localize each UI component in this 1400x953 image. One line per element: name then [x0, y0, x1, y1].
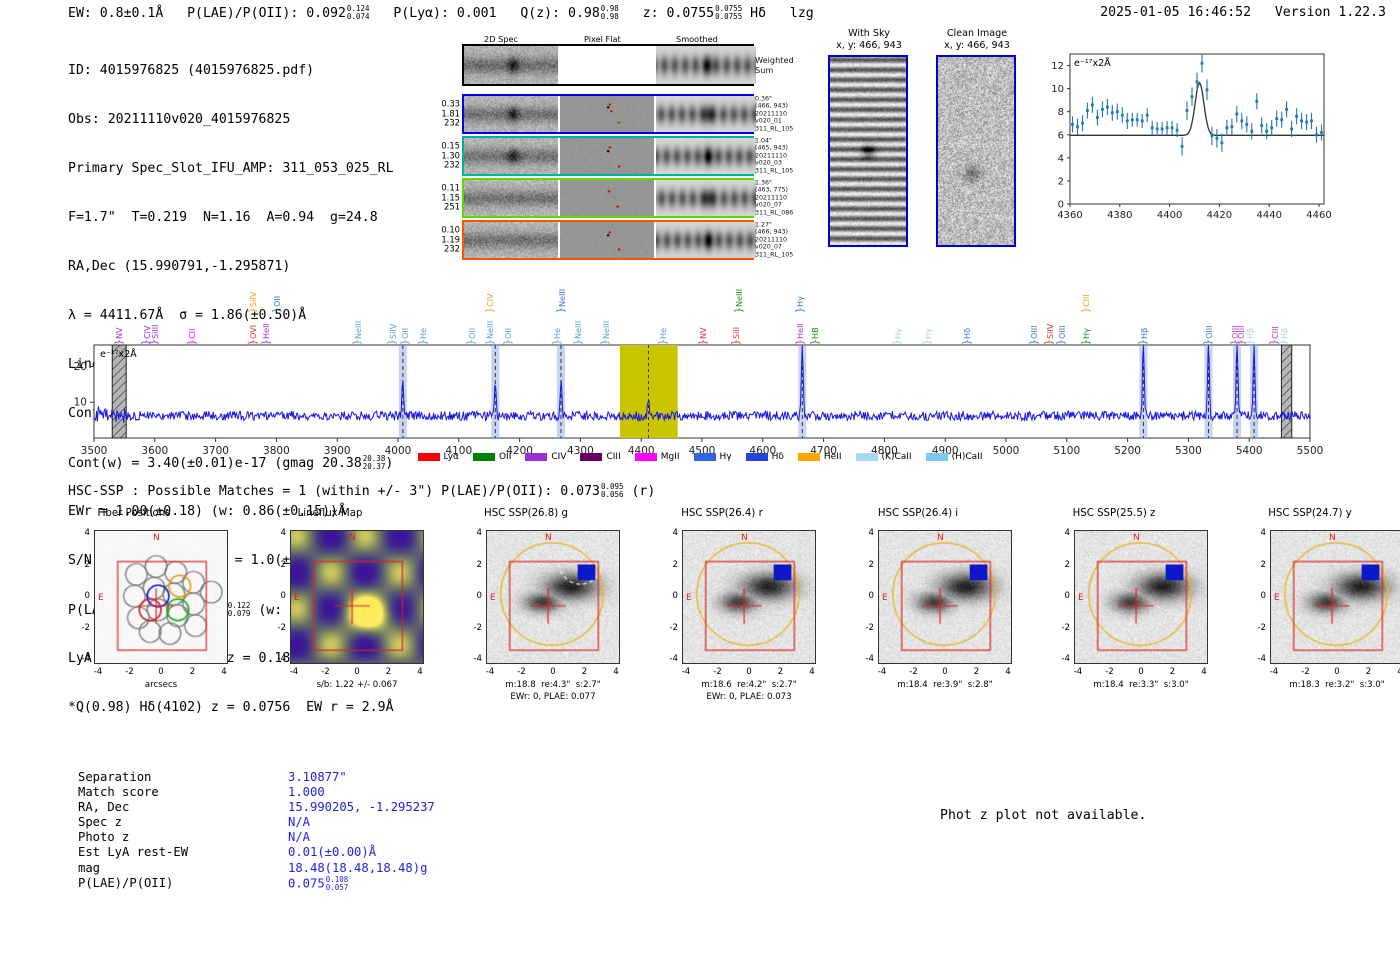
- legend-swatch-4: [635, 453, 657, 461]
- mosaic-row-meta-2: 1.36" (463, 775) 20211110 v020_07 311_RL…: [755, 179, 793, 216]
- mosaic-cell-r2-smoothed: [656, 180, 756, 216]
- header-z-bounds: 0.07550.0755: [715, 5, 742, 21]
- hsc-match-header: HSC-SSP : Possible Matches = 1 (within +…: [68, 483, 655, 499]
- cutout-0-ytick-3: -2: [68, 623, 90, 633]
- detail-value-5: 0.01(±0.00)Å: [288, 845, 376, 859]
- line-label-cii-3: CII: [187, 305, 197, 339]
- cutout-0-ytick-4: -4: [68, 654, 90, 664]
- line-brace-28: {: [922, 339, 930, 345]
- cutout-1-ytick-3: -2: [264, 623, 286, 633]
- sky-cutout-caption-1: Clean Imagex, y: 466, 943: [922, 28, 1032, 51]
- detail-value-3: N/A: [288, 815, 310, 829]
- mosaic-cell-r3-pixelflat: [560, 222, 654, 258]
- cutout-6-xtick-3: 2: [1359, 667, 1379, 677]
- cutout-title-5: HSC SSP(25.5) z: [1034, 508, 1194, 519]
- mosaic-row-weighted-sum: Weighted Sum: [462, 44, 754, 86]
- cutout-title-1: Lineflux Map: [250, 508, 410, 519]
- line-label-nv-21: NV: [698, 305, 708, 339]
- svg-text:20: 20: [74, 361, 87, 373]
- line-label-heii-5: HeII: [261, 305, 271, 339]
- legend-item-mgii: MgII: [635, 452, 680, 462]
- cutout-0-xtick-3: 2: [183, 667, 203, 677]
- detail-row-5: Est LyA rest-EW0.01(±0.00)Å: [78, 845, 435, 860]
- cutout-2-xtick-0: -4: [480, 667, 500, 677]
- line-label-civ-15: CIV: [485, 273, 495, 307]
- detail-row-1: Match score1.000: [78, 785, 435, 800]
- cutout-5-ytick-1: 2: [1048, 560, 1070, 570]
- cutout-title-0: Fiber Positions: [54, 508, 214, 519]
- compass-e-3: E: [686, 593, 692, 603]
- spectrum-svg: 1020350036003700380039004000410042004300…: [94, 345, 1310, 460]
- legend-label-9: (H)CaII: [952, 452, 983, 462]
- cutout-image-2[interactable]: NE: [486, 530, 620, 664]
- cutout-title-6: HSC SSP(24.7) y: [1230, 508, 1390, 519]
- mosaic-cell-smoothed: [656, 46, 756, 84]
- header-plae: P(LAE)/P(OII): 0.092: [187, 6, 346, 21]
- cutout-3-xtick-2: 0: [739, 667, 759, 677]
- detail-key-1: Match score: [78, 785, 288, 800]
- line-label-oiii-32: OIII: [1057, 305, 1067, 339]
- cutout-1-ytick-4: -4: [264, 654, 286, 664]
- line-label-oii-12: OII: [467, 305, 477, 339]
- line-brace-11: {: [418, 339, 426, 345]
- line-label-hβ-35: Hβ: [1139, 305, 1149, 339]
- line-brace-40: {: [1269, 339, 1277, 345]
- line-brace-34: {: [1081, 307, 1089, 313]
- cutout-5-xtick-4: 4: [1194, 667, 1214, 677]
- line-brace-16: {: [552, 339, 560, 345]
- mosaic-cell-r2-2dspec: [464, 180, 558, 216]
- cutout-2-ytick-4: -4: [460, 654, 482, 664]
- line-brace-26: {: [795, 307, 803, 313]
- compass-e-4: E: [882, 593, 888, 603]
- cutout-4-ytick-1: 2: [852, 560, 874, 570]
- line-label-siiv-9: SiIV: [388, 305, 398, 339]
- line-brace-35: {: [1138, 339, 1146, 345]
- detail-row-plae: P(LAE)/P(OII)0.0750.1080.057: [78, 876, 435, 892]
- cutout-2-ytick-0: 4: [460, 528, 482, 538]
- cutout-title-2: HSC SSP(26.8) g: [446, 508, 606, 519]
- line-brace-7: {: [272, 307, 280, 313]
- detail-value-0: 3.10877": [288, 770, 347, 784]
- sky-cutout-image-0[interactable]: [828, 55, 908, 247]
- line-brace-20: {: [658, 339, 666, 345]
- svg-text:10: 10: [74, 397, 87, 409]
- cutout-caption-5: m:18.4 re:3.3" s:3.0": [1046, 680, 1236, 692]
- cutout-2-ytick-2: 0: [460, 591, 482, 601]
- mosaic-cell-2dspec: [464, 46, 558, 84]
- cutout-1-ytick-2: 0: [264, 591, 286, 601]
- mosaic-row-1: 0.15 1.30 2321.04" (465, 943) 20211110 v…: [462, 136, 754, 176]
- detail-row-6: mag18.48(18.48,18.48)g: [78, 861, 435, 876]
- cutout-2-xtick-3: 2: [575, 667, 595, 677]
- cutout-4-xtick-3: 2: [967, 667, 987, 677]
- line-brace-33: {: [1081, 339, 1089, 345]
- mosaic-row-label-0: 0.33 1.81 232: [441, 100, 460, 129]
- line-label-neiii-8: NeIII: [353, 305, 363, 339]
- cutout-0-ytick-0: 4: [68, 528, 90, 538]
- line-brace-38: {: [1236, 339, 1244, 345]
- sky-cutout-caption-0: With Skyx, y: 466, 943: [814, 28, 924, 51]
- legend-item-civ: CIV: [525, 452, 566, 462]
- cutout-3-xtick-1: -2: [708, 667, 728, 677]
- mosaic-row-label-3: 0.10 1.19 232: [441, 226, 460, 255]
- compass-e-5: E: [1078, 593, 1084, 603]
- line-brace-25: {: [810, 339, 818, 345]
- line-brace-15: {: [485, 307, 493, 313]
- cutout-3-ytick-4: -4: [656, 654, 678, 664]
- cutout-6-ytick-1: 2: [1244, 560, 1266, 570]
- mosaic-row-3: 0.10 1.19 2321.27" (466, 943) 20211110 v…: [462, 220, 754, 260]
- line-brace-29: {: [962, 339, 970, 345]
- legend-item-hγ: Hγ: [694, 452, 732, 462]
- line-label-he-20: He: [658, 305, 668, 339]
- header-timestamp: 2025-01-05 16:46:52: [1100, 5, 1251, 20]
- emission-line-svg: 436043804400442044404460024681012e⁻¹⁷x2Å: [1036, 44, 1332, 230]
- legend-label-8: (K)CaII: [882, 452, 912, 462]
- mosaic-row-meta-0: 0.36" (466, 943) 20211110 v020_01 311_RL…: [755, 95, 793, 132]
- detail-key-6: mag: [78, 861, 288, 876]
- line-brace-8: {: [352, 339, 360, 345]
- legend-label-2: CIV: [551, 452, 566, 462]
- detail-key-0: Separation: [78, 770, 288, 785]
- detail-key-3: Spec z: [78, 815, 288, 830]
- line-brace-5: {: [261, 339, 269, 345]
- line-brace-9: {: [387, 339, 395, 345]
- cutout-5-xtick-1: -2: [1100, 667, 1120, 677]
- line-label-neiii-18: NeIII: [601, 305, 611, 339]
- mosaic-weighted-sum-label: Weighted Sum: [755, 55, 794, 75]
- cutout-4-ytick-3: -2: [852, 623, 874, 633]
- mosaic-row-0: 0.33 1.81 2320.36" (466, 943) 20211110 v…: [462, 94, 754, 134]
- compass-n-5: N: [1133, 533, 1140, 543]
- cutout-caption-0: arcsecs: [66, 680, 256, 692]
- cutout-0-ytick-2: 0: [68, 591, 90, 601]
- spec2d-mosaic: 2D Spec Pixel Flat Smoothed Weighted Sum…: [462, 34, 754, 252]
- cutout-4-xtick-4: 4: [998, 667, 1018, 677]
- cutout-image-6[interactable]: NE: [1270, 530, 1400, 664]
- header-ew: EW: 0.8±0.1Å: [68, 6, 163, 21]
- legend-item-kcaii: (K)CaII: [856, 452, 912, 462]
- cutout-4-xtick-1: -2: [904, 667, 924, 677]
- cutout-6-ytick-2: 0: [1244, 591, 1266, 601]
- cutout-3-ytick-3: -2: [656, 623, 678, 633]
- mosaic-col-title-smoothed: Smoothed: [676, 34, 718, 44]
- mosaic-row-label-2: 0.11 1.15 251: [441, 184, 460, 213]
- sky-cutout-coords-0: x, y: 466, 943: [814, 40, 924, 52]
- line-label-ciii-34: CIII: [1081, 273, 1091, 307]
- legend-label-7: HeII: [824, 452, 842, 462]
- legend-label-0: Lyα: [444, 452, 459, 462]
- legend-item-heii: HeII: [798, 452, 842, 462]
- detail-value-1: 1.000: [288, 785, 325, 799]
- header-stamp: 2025-01-05 16:46:52 Version 1.22.3: [1100, 5, 1386, 20]
- cutout-1-xtick-4: 4: [410, 667, 430, 677]
- legend-item-oii: OII: [473, 452, 511, 462]
- line-label-hγ-26: Hγ: [795, 273, 805, 307]
- line-brace-36: {: [1203, 339, 1211, 345]
- line-label-hb-25: HB: [810, 305, 820, 339]
- line-brace-6: {: [248, 307, 256, 313]
- legend-swatch-8: [856, 453, 878, 461]
- legend-swatch-1: [473, 453, 495, 461]
- cutout-caption-2: m:18.8 re:4.3" s:2.7" EWr: 0, PLAE: 0.07…: [458, 680, 648, 703]
- compass-n-0: N: [153, 533, 160, 543]
- line-brace-0: {: [114, 339, 122, 345]
- cutout-image-5[interactable]: NE: [1074, 530, 1208, 664]
- header-plya: P(Lyα): 0.001: [393, 6, 496, 21]
- cutout-5-xtick-3: 2: [1163, 667, 1183, 677]
- mosaic-cell-r3-smoothed: [656, 222, 756, 258]
- legend-label-3: CIII: [606, 452, 620, 462]
- info-line-slot: Primary Spec_Slot_IFU_AMP: 311_053_025_R…: [68, 161, 394, 177]
- compass-e-2: E: [490, 593, 496, 603]
- cutout-3-ytick-1: 2: [656, 560, 678, 570]
- line-brace-41: {: [1278, 339, 1286, 345]
- line-label-hβ-39: Hβ: [1245, 305, 1255, 339]
- cutout-5-ytick-2: 0: [1048, 591, 1070, 601]
- line-brace-14: {: [503, 339, 511, 345]
- cutout-5-xtick-0: -4: [1068, 667, 1088, 677]
- masked-band-1: [1281, 345, 1291, 438]
- legend-swatch-2: [525, 453, 547, 461]
- detail-value-6: 18.48(18.48,18.48)g: [288, 861, 427, 875]
- mosaic-row-label-1: 0.15 1.30 232: [441, 142, 460, 171]
- cutout-1-ytick-1: 2: [264, 560, 286, 570]
- hsc-header-text: HSC-SSP : Possible Matches = 1 (within +…: [68, 484, 600, 499]
- hsc-header-bounds: 0.0950.056: [601, 483, 624, 499]
- line-label-nv-0: NV: [114, 305, 124, 339]
- line-label-hβ-41: Hβ: [1279, 305, 1289, 339]
- detail-row-2: RA, Dec15.990205, -1.295237: [78, 800, 435, 815]
- line-brace-18: {: [600, 339, 608, 345]
- info-line-id: ID: 4015976825 (4015976825.pdf): [68, 63, 394, 79]
- line-brace-31: {: [1044, 339, 1052, 345]
- legend-label-4: MgII: [661, 452, 680, 462]
- cutout-6-xtick-0: -4: [1264, 667, 1284, 677]
- hsc-header-band: (r): [631, 484, 655, 499]
- legend-item-lyα: Lyα: [418, 452, 459, 462]
- line-brace-17: {: [573, 339, 581, 345]
- svg-text:12: 12: [1051, 61, 1064, 72]
- cutout-0-xtick-0: -4: [88, 667, 108, 677]
- cutout-4-ytick-2: 0: [852, 591, 874, 601]
- legend-item-ciii: CIII: [580, 452, 620, 462]
- line-label-he-11: He: [418, 305, 428, 339]
- line-brace-19: {: [556, 307, 564, 313]
- detail-value-2: 15.990205, -1.295237: [288, 800, 435, 814]
- legend-swatch-9: [926, 453, 948, 461]
- compass-e-1: E: [294, 593, 300, 603]
- header-version: Version 1.22.3: [1275, 5, 1386, 20]
- mosaic-row-2: 0.11 1.15 2511.36" (463, 775) 20211110 v…: [462, 178, 754, 218]
- line-brace-39: {: [1245, 339, 1253, 345]
- line-label-neiii-19: NeIII: [557, 273, 567, 307]
- cutout-3-ytick-0: 4: [656, 528, 678, 538]
- cutout-0-xtick-4: 4: [214, 667, 234, 677]
- cutout-caption-6: m:18.3 re:3.2" s:3.0": [1242, 680, 1400, 692]
- detail-value-4: N/A: [288, 830, 310, 844]
- photz-unavailable-note: Phot z plot not available.: [940, 808, 1146, 823]
- legend-swatch-3: [580, 453, 602, 461]
- compass-e-6: E: [1274, 593, 1280, 603]
- line-label-oii-7: OII: [272, 273, 282, 307]
- header-plae-bounds: 0.1240.074: [347, 5, 370, 21]
- line-label-siiv-6: SiIV: [248, 273, 258, 307]
- info-line-obs: Obs: 20211110v020_4015976825: [68, 112, 394, 128]
- cutout-title-3: HSC SSP(26.4) r: [642, 508, 802, 519]
- compass-n-1: N: [349, 533, 356, 543]
- legend-swatch-7: [798, 453, 820, 461]
- detail-key-4: Photo z: [78, 830, 288, 845]
- sky-cutout-coords-1: x, y: 466, 943: [922, 40, 1032, 52]
- detail-value-plae: 0.075: [288, 876, 325, 890]
- cutout-image-1[interactable]: NE: [290, 530, 424, 664]
- cutout-6-ytick-0: 4: [1244, 528, 1266, 538]
- cutout-2-ytick-1: 2: [460, 560, 482, 570]
- header-qz: Q(z): 0.98: [520, 6, 599, 21]
- emission-line-plot: 436043804400442044404460024681012e⁻¹⁷x2Å: [1036, 44, 1332, 230]
- sky-cutout-title-1: Clean Image: [922, 28, 1032, 40]
- cutout-4-ytick-0: 4: [852, 528, 874, 538]
- detail-row-4: Photo zN/A: [78, 830, 435, 845]
- svg-text:4: 4: [1058, 153, 1064, 164]
- cutout-2-xtick-2: 0: [543, 667, 563, 677]
- info-line-seeing: F=1.7" T=0.219 N=1.16 A=0.94 g=24.8: [68, 210, 394, 226]
- cutout-1-ytick-0: 4: [264, 528, 286, 538]
- cutout-image-3[interactable]: NE: [682, 530, 816, 664]
- cutout-5-ytick-4: -4: [1048, 654, 1070, 664]
- mosaic-cell-r2-pixelflat: [560, 180, 654, 216]
- line-label-oiii-36: OIII: [1204, 305, 1214, 339]
- line-brace-12: {: [466, 339, 474, 345]
- line-brace-3: {: [187, 339, 195, 345]
- match-detail-table: Separation3.10877"Match score1.000RA, De…: [78, 770, 435, 892]
- mosaic-cell-r1-2dspec: [464, 138, 558, 174]
- header-zline: Hδ: [750, 6, 766, 21]
- mosaic-cell-r0-pixelflat: [560, 96, 654, 132]
- cutout-2-ytick-3: -2: [460, 623, 482, 633]
- line-label-siiv-31: SiIV: [1045, 305, 1055, 339]
- svg-text:0: 0: [1058, 200, 1064, 211]
- svg-text:4400: 4400: [1157, 210, 1182, 221]
- cutout-4-ytick-4: -4: [852, 654, 874, 664]
- line-label-oii-14: OII: [503, 305, 513, 339]
- detail-row-0: Separation3.10877": [78, 770, 435, 785]
- header-qz-bounds: 0.980.98: [601, 5, 619, 21]
- cutout-4-xtick-2: 0: [935, 667, 955, 677]
- header-flag: lzg: [790, 6, 814, 21]
- legend-swatch-6: [746, 453, 768, 461]
- legend-swatch-0: [418, 453, 440, 461]
- cutout-2-xtick-1: -2: [512, 667, 532, 677]
- line-label-hγ-27: Hγ: [893, 305, 903, 339]
- svg-text:4460: 4460: [1306, 210, 1331, 221]
- cutout-image-0[interactable]: NE: [94, 530, 228, 664]
- cutout-5-ytick-3: -2: [1048, 623, 1070, 633]
- summary-header: EW: 0.8±0.1Å P(LAE)/P(OII): 0.0920.1240.…: [68, 5, 814, 21]
- line-brace-10: {: [400, 339, 408, 345]
- mosaic-cell-r0-2dspec: [464, 96, 558, 132]
- compass-n-3: N: [741, 533, 748, 543]
- line-brace-4: {: [248, 339, 256, 345]
- cutout-1-xtick-0: -4: [284, 667, 304, 677]
- header-z: z: 0.0755: [643, 6, 714, 21]
- compass-n-4: N: [937, 533, 944, 543]
- spectrum-legend: LyαOIICIVCIIIMgIIHγHδHeII(K)CaII(H)CaII: [0, 452, 1400, 462]
- cutout-image-4[interactable]: NE: [878, 530, 1012, 664]
- svg-text:10: 10: [1051, 84, 1064, 95]
- line-brace-24: {: [795, 339, 803, 345]
- svg-text:4440: 4440: [1256, 210, 1281, 221]
- compass-n-2: N: [545, 533, 552, 543]
- cutout-6-xtick-4: 4: [1390, 667, 1400, 677]
- mosaic-col-title-pixelflat: Pixel Flat: [584, 34, 621, 44]
- sky-cutout-title-0: With Sky: [814, 28, 924, 40]
- line-label-hγ-28: Hγ: [923, 305, 933, 339]
- cutout-2-xtick-4: 4: [606, 667, 626, 677]
- mosaic-col-title-2dspec: 2D Spec: [484, 34, 518, 44]
- line-label-oii-10: OII: [400, 305, 410, 339]
- line-brace-30: {: [1029, 339, 1037, 345]
- mosaic-cell-r0-smoothed: [656, 96, 756, 132]
- detail-value-plae-bounds: 0.1080.057: [326, 876, 349, 892]
- detail-row-3: Spec zN/A: [78, 815, 435, 830]
- line-brace-23: {: [734, 307, 742, 313]
- svg-text:4420: 4420: [1207, 210, 1232, 221]
- sky-cutout-image-1[interactable]: [936, 55, 1016, 247]
- cutout-3-xtick-0: -4: [676, 667, 696, 677]
- cutout-caption-3: m:18.6 re:4.2" s:2.7" EWr: 0, PLAE: 0.07…: [654, 680, 844, 703]
- cutout-6-xtick-1: -2: [1296, 667, 1316, 677]
- cutout-0-ytick-1: 2: [68, 560, 90, 570]
- legend-label-5: Hγ: [720, 452, 732, 462]
- line-label-hδ-29: Hδ: [962, 305, 972, 339]
- line-brace-32: {: [1056, 339, 1064, 345]
- full-spectrum-plot: 1020350036003700380039004000410042004300…: [94, 345, 1310, 438]
- info-line-qflag: *Q(0.98) Hδ(4102) z = 0.0756 EW r = 2.9Å: [68, 700, 394, 716]
- cutout-3-xtick-4: 4: [802, 667, 822, 677]
- detail-key-plae: P(LAE)/P(OII): [78, 876, 288, 891]
- cutout-5-xtick-2: 0: [1131, 667, 1151, 677]
- line-label-neiii-17: NeIII: [573, 305, 583, 339]
- mosaic-row-meta-3: 1.27" (466, 943) 20211110 v020_07 311_RL…: [755, 221, 793, 258]
- compass-e-0: E: [98, 593, 104, 603]
- svg-text:8: 8: [1058, 107, 1064, 118]
- cutout-0-xtick-1: -2: [120, 667, 140, 677]
- line-label-oiii-30: OIII: [1029, 305, 1039, 339]
- legend-label-6: Hδ: [772, 452, 784, 462]
- svg-text:4360: 4360: [1057, 210, 1082, 221]
- cutout-3-xtick-3: 2: [771, 667, 791, 677]
- line-brace-27: {: [892, 339, 900, 345]
- info-line-radec: RA,Dec (15.990791,-1.295871): [68, 259, 394, 275]
- line-label-siiii-2: SiIII: [150, 305, 160, 339]
- spectrum-flux-unit: e⁻¹⁷x2Å: [100, 348, 137, 360]
- legend-swatch-5: [694, 453, 716, 461]
- cutout-0-xtick-2: 0: [151, 667, 171, 677]
- mosaic-cell-pixelflat: [560, 46, 654, 84]
- svg-text:2: 2: [1058, 176, 1064, 187]
- detail-key-2: RA, Dec: [78, 800, 288, 815]
- cutout-caption-1: s/b: 1.22 +/- 0.067: [262, 680, 452, 692]
- mosaic-row-meta-1: 1.04" (465, 943) 20211110 v020_03 311_RL…: [755, 137, 793, 174]
- mosaic-cell-r1-smoothed: [656, 138, 756, 174]
- cutout-4-xtick-0: -4: [872, 667, 892, 677]
- compass-n-6: N: [1329, 533, 1336, 543]
- line-brace-2: {: [149, 339, 157, 345]
- cutout-6-xtick-2: 0: [1327, 667, 1347, 677]
